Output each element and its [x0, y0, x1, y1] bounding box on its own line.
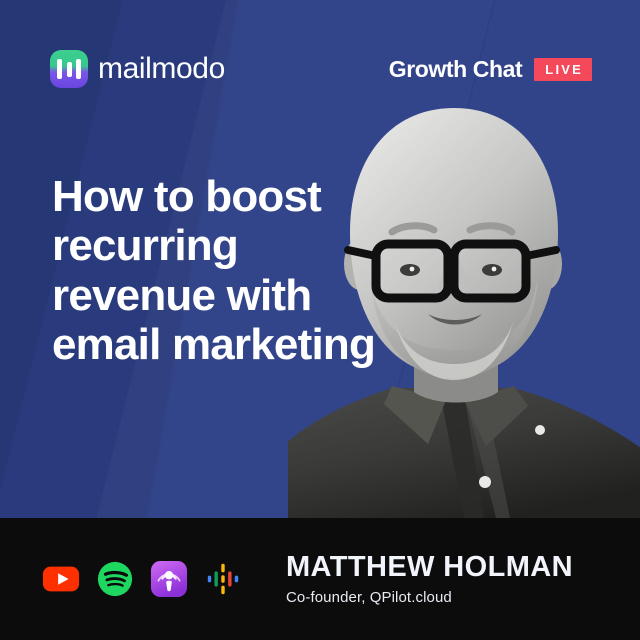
- headline: How to boost recurring revenue with emai…: [52, 172, 422, 369]
- poster-footer: MATTHEW HOLMAN Co-founder, QPilot.cloud: [0, 518, 640, 640]
- show-badge: Growth Chat LIVE: [389, 56, 592, 83]
- google-podcasts-icon[interactable]: [204, 560, 242, 598]
- headline-line-2: recurring: [52, 221, 422, 270]
- brand-lockup: mailmodo: [50, 50, 225, 88]
- live-badge: LIVE: [534, 58, 592, 81]
- brand-wordmark: mailmodo: [98, 54, 225, 84]
- webinar-promo-poster: mailmodo Growth Chat LIVE How to boost r…: [0, 0, 640, 640]
- headline-line-4: email marketing: [52, 320, 422, 369]
- youtube-icon[interactable]: [42, 560, 80, 598]
- show-title: Growth Chat: [389, 56, 523, 83]
- headline-line-3: revenue with: [52, 271, 422, 320]
- speaker-info: MATTHEW HOLMAN Co-founder, QPilot.cloud: [286, 552, 573, 607]
- mailmodo-logo-icon: [50, 50, 88, 88]
- apple-podcasts-icon[interactable]: [150, 560, 188, 598]
- speaker-name: MATTHEW HOLMAN: [286, 552, 573, 584]
- spotify-icon[interactable]: [96, 560, 134, 598]
- platform-icons: [42, 560, 242, 598]
- poster-header: mailmodo Growth Chat LIVE: [50, 48, 592, 90]
- speaker-role: Co-founder, QPilot.cloud: [286, 589, 573, 606]
- headline-line-1: How to boost: [52, 172, 422, 221]
